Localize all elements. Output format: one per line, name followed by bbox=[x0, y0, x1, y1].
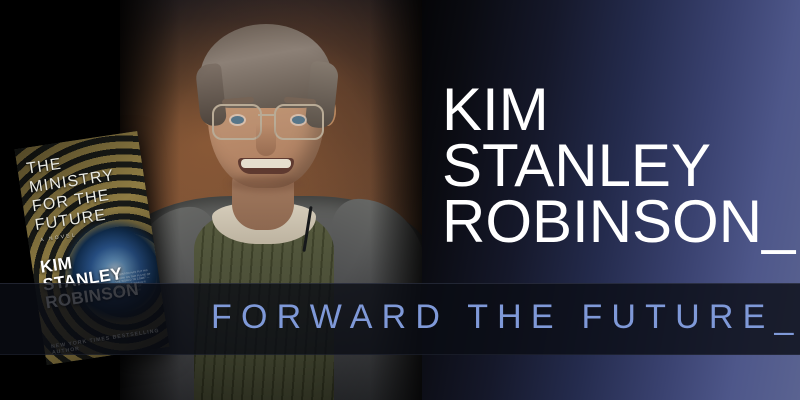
tagline-text: FORWARD THE FUTURE_ bbox=[211, 297, 800, 337]
headline-line-3: ROBINSON_ bbox=[442, 194, 795, 250]
headline-line-1: KIM bbox=[442, 82, 795, 138]
book-cover-title: THE MINISTRY FOR THE FUTURE bbox=[25, 144, 144, 235]
headline-line-2: STANLEY bbox=[442, 138, 795, 194]
author-name-headline: KIM STANLEY ROBINSON_ bbox=[442, 82, 795, 250]
author-promo-banner: THE MINISTRY FOR THE FUTURE A NOVEL KIM … bbox=[0, 0, 800, 400]
